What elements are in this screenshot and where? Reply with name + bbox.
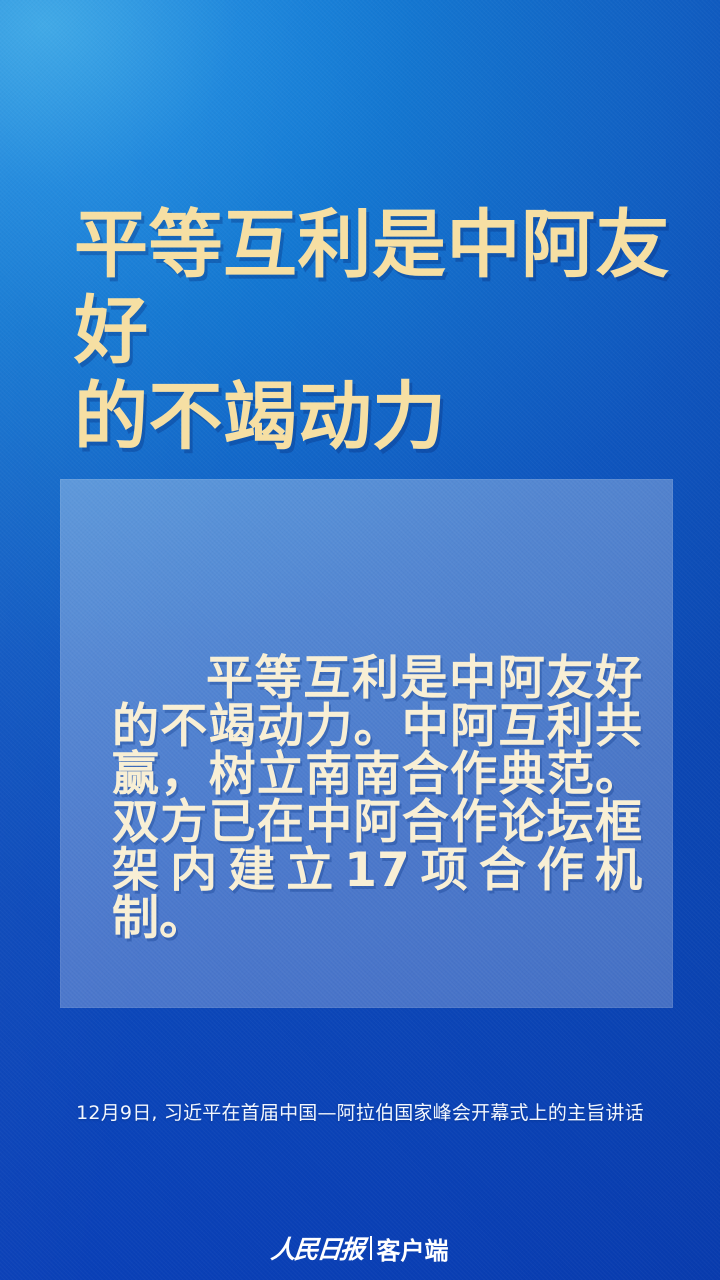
source-caption: 12月9日, 习近平在首届中国—阿拉伯国家峰会开幕式上的主旨讲话	[0, 1098, 720, 1125]
peoples-daily-wordmark: 人民日报	[270, 1230, 370, 1266]
quote-body-text: 平等互利是中阿友好的不竭动力。中阿互利共赢，树立南南合作典范。双方已在中阿合作论…	[112, 655, 642, 943]
app-wordmark: 客户端	[377, 1231, 449, 1266]
footer-logo: 人民日报 客户端	[0, 1231, 720, 1265]
logo-divider	[370, 1236, 372, 1260]
poster-canvas: 平等互利是中阿友好 的不竭动力 平等互利是中阿友好的不竭动力。中阿互利共赢，树立…	[0, 0, 720, 1280]
page-title: 平等互利是中阿友好 的不竭动力	[74, 202, 674, 460]
